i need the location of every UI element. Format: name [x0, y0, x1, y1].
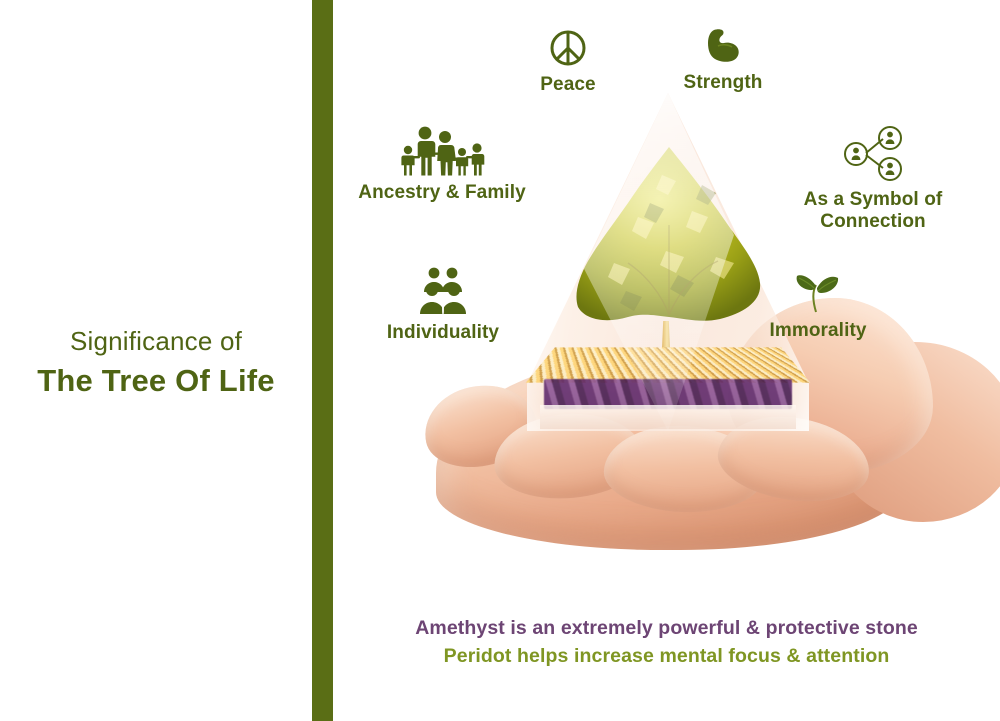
benefit-label: As a Symbol of Connection: [773, 189, 973, 234]
content-panel: Peace Strength: [333, 0, 1000, 721]
caption-block: Amethyst is an extremely powerful & prot…: [333, 614, 1000, 671]
flexed-bicep-icon: [701, 26, 745, 66]
benefit-label: Peace: [503, 74, 633, 96]
benefit-label: Strength: [658, 72, 788, 94]
page-subtitle: Significance of: [11, 326, 301, 358]
benefit-peace[interactable]: Peace: [503, 28, 633, 96]
peace-sign-icon: [548, 28, 588, 68]
peridot-caption: Peridot helps increase mental focus & at…: [333, 642, 1000, 670]
benefit-strength[interactable]: Strength: [658, 26, 788, 94]
vertical-divider-bar: [312, 0, 333, 721]
sprout-leaf-icon: [792, 268, 844, 314]
benefit-ancestry-family[interactable]: Ancestry & Family: [333, 124, 551, 204]
title-wrap: Significance of The Tree Of Life: [11, 326, 301, 400]
amethyst-caption: Amethyst is an extremely powerful & prot…: [333, 614, 1000, 642]
people-group-icon: [417, 266, 469, 316]
benefit-label: Immorality: [733, 320, 903, 342]
network-connection-icon: [840, 125, 906, 183]
page-title: The Tree Of Life: [11, 362, 301, 401]
benefit-connection[interactable]: As a Symbol of Connection: [773, 125, 973, 234]
infographic-root: Significance of The Tree Of Life: [0, 0, 1000, 721]
title-panel: Significance of The Tree Of Life: [0, 0, 312, 721]
benefit-label: Individuality: [353, 322, 533, 344]
benefit-immorality[interactable]: Immorality: [733, 268, 903, 342]
family-group-icon: [396, 124, 488, 176]
benefit-label: Ancestry & Family: [333, 182, 551, 204]
benefit-individuality[interactable]: Individuality: [353, 266, 533, 344]
